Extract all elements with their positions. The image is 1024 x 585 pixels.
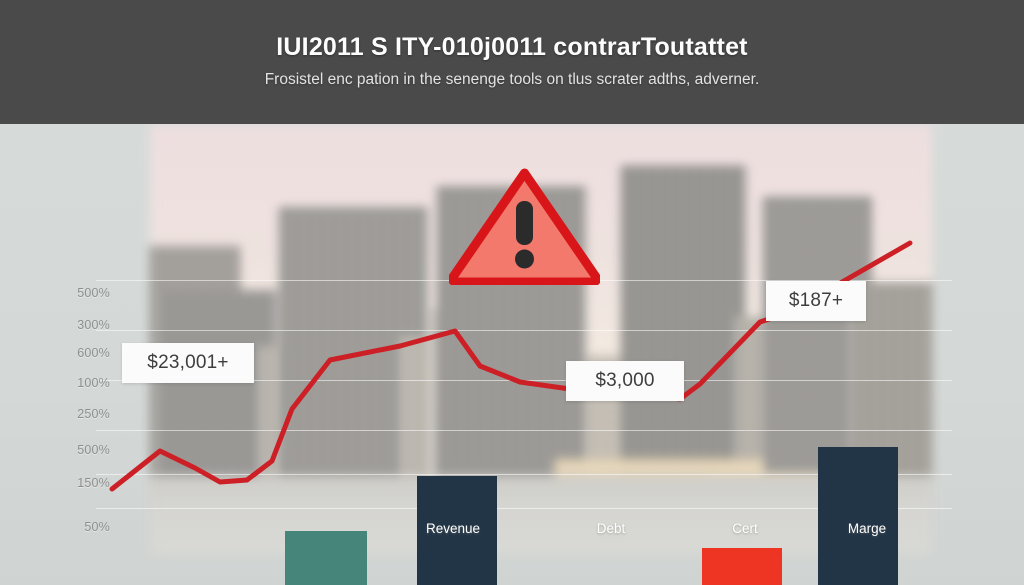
data-callout-1[interactable]: $23,001+ [122, 343, 254, 383]
y-axis-label-1: 300% [52, 318, 110, 332]
screenshot-root: IUI2011 S ITY-010j0011 contrarToutattet … [0, 0, 1024, 585]
y-axis-label-5: 500% [52, 443, 110, 457]
x-axis-label-marge: Marge [812, 521, 922, 536]
x-axis-label-debt: Debt [556, 521, 666, 536]
warning-exclamation-dot [515, 250, 534, 269]
y-axis-label-2: 600% [52, 346, 110, 360]
x-axis-label-cert: Cert [690, 521, 800, 536]
y-axis-label-6: 150% [52, 476, 110, 490]
header-banner: IUI2011 S ITY-010j0011 contrarToutattet … [0, 0, 1024, 124]
y-axis-label-4: 250% [52, 407, 110, 421]
page-title: IUI2011 S ITY-010j0011 contrarToutattet [276, 34, 747, 62]
data-callout-2[interactable]: $3,000 [566, 361, 684, 401]
page-subtitle: Frosistel enc pation in the senenge tool… [265, 71, 760, 90]
x-axis-label-revenue: Revenue [398, 521, 508, 536]
warning-triangle-icon[interactable] [449, 167, 600, 285]
y-axis-label-7: 50% [52, 520, 110, 534]
y-axis-label-3: 100% [52, 376, 110, 390]
warning-exclamation-bar [516, 201, 533, 245]
y-axis-label-0: 500% [52, 286, 110, 300]
data-callout-3[interactable]: $187+ [766, 281, 866, 321]
